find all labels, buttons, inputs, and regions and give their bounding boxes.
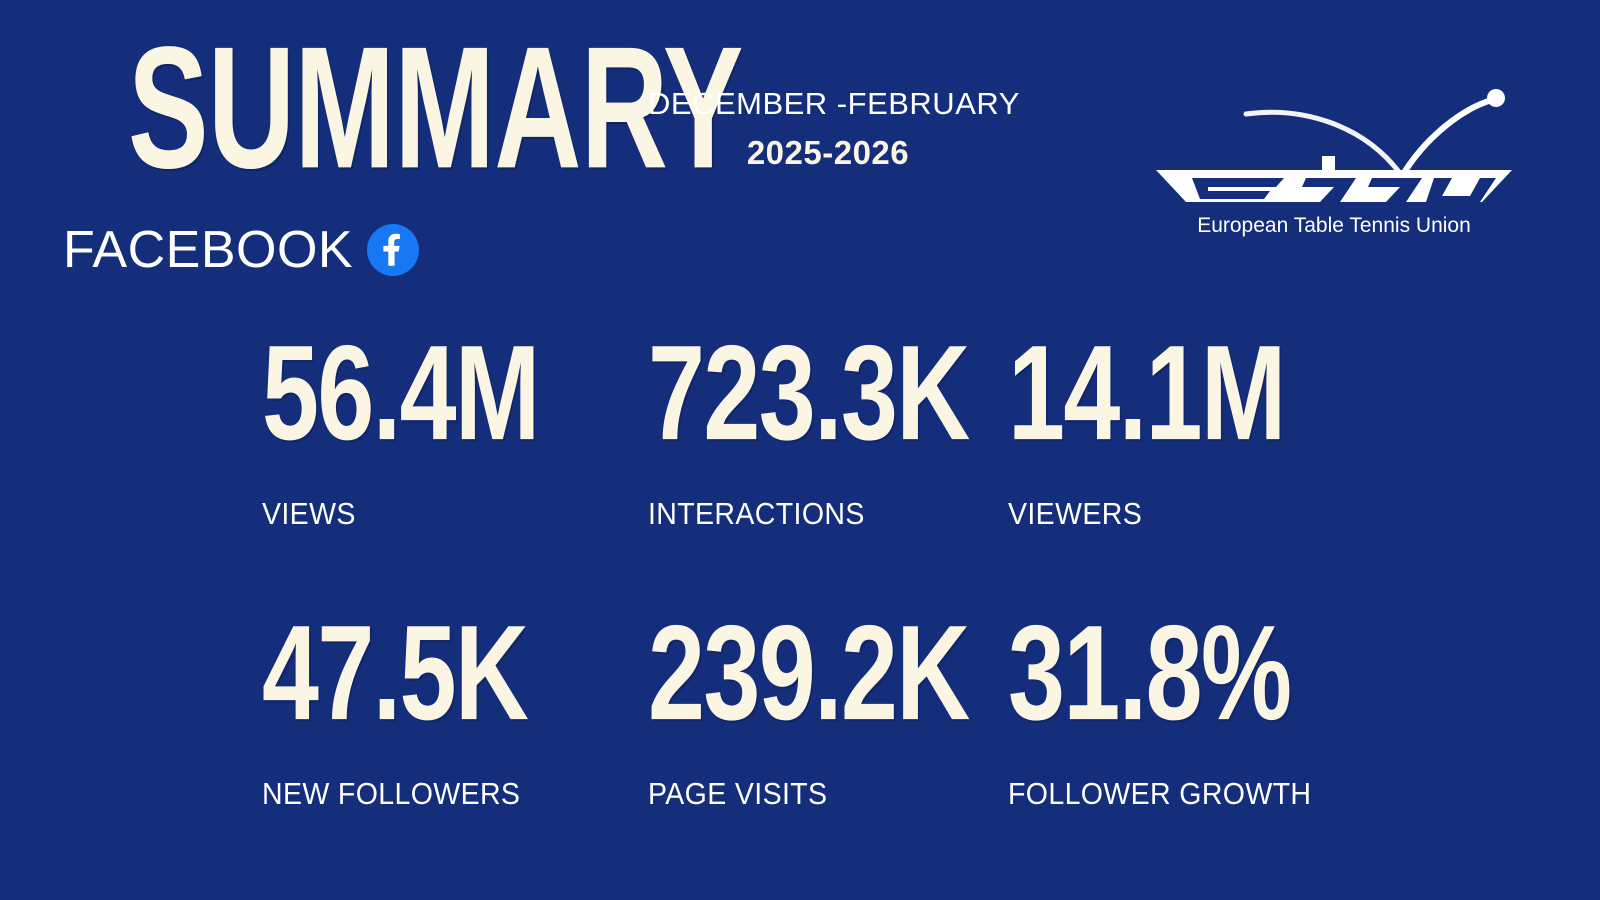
- net-post: [1322, 156, 1335, 172]
- stats-row-2: 47.5K NEW FOLLOWERS 239.2K PAGE VISITS 3…: [0, 610, 1600, 890]
- stat-page-visits: 239.2K PAGE VISITS: [648, 610, 1039, 812]
- stat-label: FOLLOWER GROWTH: [1008, 776, 1325, 812]
- stat-views: 56.4M VIEWS: [262, 330, 599, 532]
- date-years-label: 2025-2026: [648, 134, 1008, 172]
- logo-subtitle: European Table Tennis Union: [1197, 214, 1471, 237]
- stat-viewers: 14.1M VIEWERS: [1008, 330, 1345, 532]
- ettu-logo: European Table Tennis Union: [1134, 78, 1534, 238]
- stat-follower-growth: 31.8% FOLLOWER GROWTH: [1008, 610, 1352, 812]
- stat-value: 239.2K: [648, 610, 969, 737]
- stat-interactions: 723.3K INTERACTIONS: [648, 330, 1039, 532]
- stat-label: VIEWS: [262, 496, 572, 532]
- stat-label: VIEWERS: [1008, 496, 1318, 532]
- platform-row: FACEBOOK: [63, 224, 419, 276]
- stat-value: 47.5K: [262, 610, 527, 737]
- stat-value: 14.1M: [1008, 330, 1285, 457]
- summary-infographic: SUMMARY DECEMBER -FEBRUARY 2025-2026: [0, 0, 1600, 900]
- stat-label: NEW FOLLOWERS: [262, 776, 560, 812]
- stat-value: 56.4M: [262, 330, 539, 457]
- platform-name: FACEBOOK: [63, 224, 353, 276]
- date-range-label: DECEMBER -FEBRUARY: [648, 86, 1008, 122]
- stats-grid: 56.4M VIEWS 723.3K INTERACTIONS 14.1M VI…: [0, 330, 1600, 890]
- ball-icon: [1487, 89, 1505, 107]
- stat-new-followers: 47.5K NEW FOLLOWERS: [262, 610, 586, 812]
- stat-value: 31.8%: [1008, 610, 1290, 737]
- stat-label: INTERACTIONS: [648, 496, 1008, 532]
- stat-label: PAGE VISITS: [648, 776, 1008, 812]
- stat-value: 723.3K: [648, 330, 969, 457]
- facebook-icon: [367, 224, 419, 276]
- stats-row-1: 56.4M VIEWS 723.3K INTERACTIONS 14.1M VI…: [0, 330, 1600, 610]
- date-period: DECEMBER -FEBRUARY 2025-2026: [648, 86, 1008, 172]
- ball-bounce-arc: [1402, 100, 1492, 176]
